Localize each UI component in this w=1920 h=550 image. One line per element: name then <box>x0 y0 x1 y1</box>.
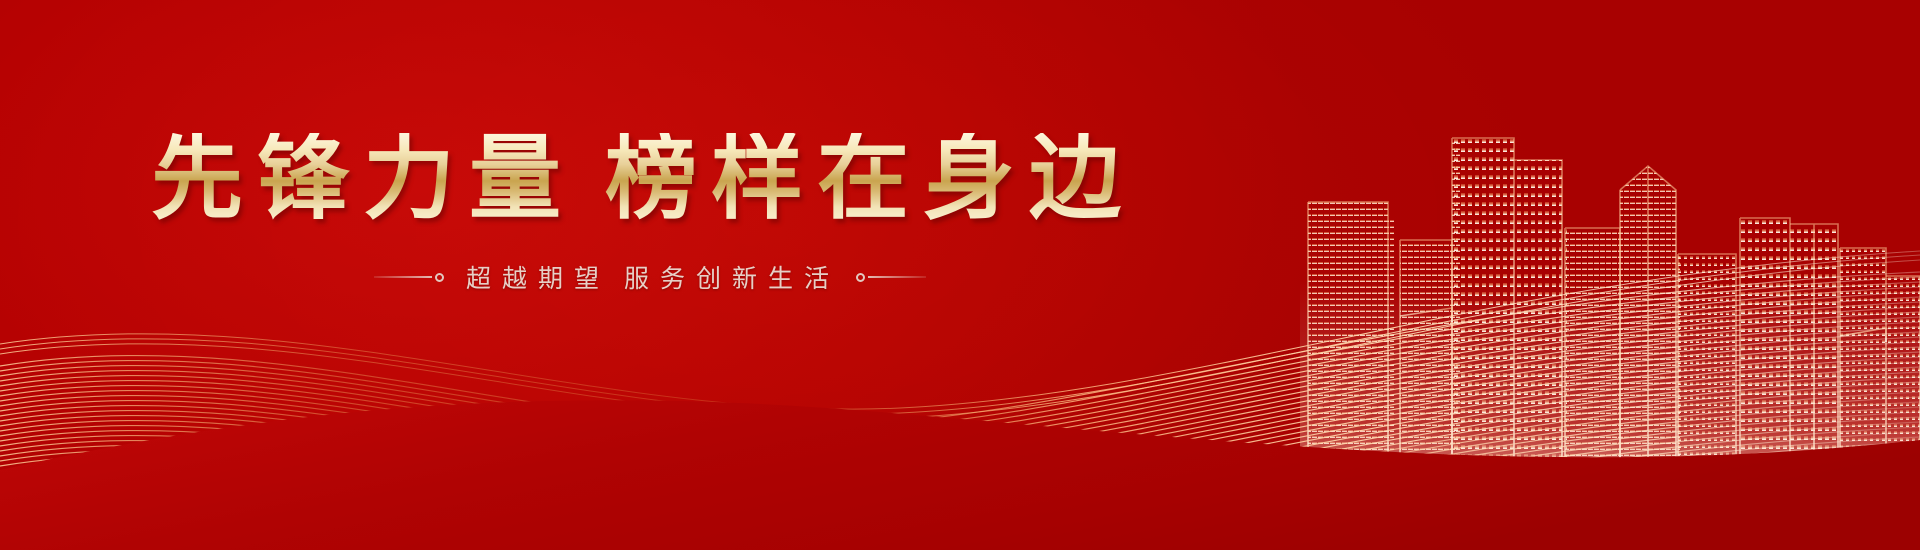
right-rule-icon <box>868 276 926 278</box>
left-rule-icon <box>374 276 432 278</box>
subtitle-part-2: 服务创新生活 <box>624 265 840 293</box>
subtitle-part-1: 超越期望 <box>466 265 610 293</box>
subtitle-row: 超越期望服务创新生活 <box>374 259 926 295</box>
headline-part-1: 先锋力量 <box>151 128 575 230</box>
headline-block: 先锋力量榜样在身边 超越期望服务创新生活 <box>0 0 1300 400</box>
right-circle-endpoint-icon <box>856 273 865 282</box>
left-circle-endpoint-icon <box>435 273 444 282</box>
headline-part-2: 榜样在身边 <box>605 128 1135 230</box>
page-title: 先锋力量榜样在身边 <box>151 133 1149 225</box>
hero-banner: 先锋力量榜样在身边 超越期望服务创新生活 <box>0 0 1920 550</box>
right-decoration <box>856 273 926 282</box>
page-subtitle: 超越期望服务创新生活 <box>460 259 840 295</box>
left-decoration <box>374 273 444 282</box>
